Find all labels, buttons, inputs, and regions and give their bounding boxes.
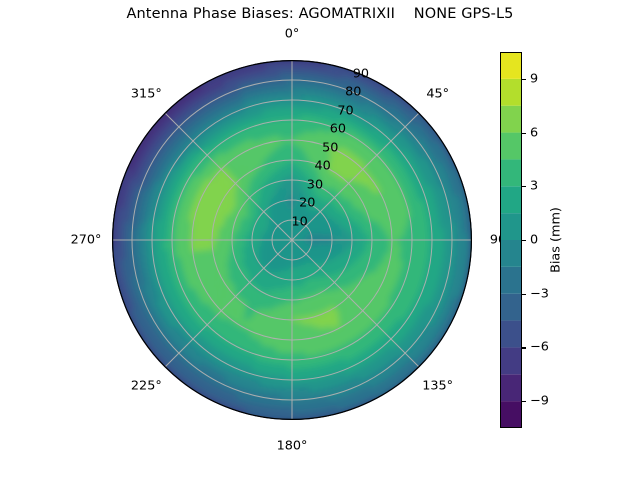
- angular-tick-label-135: 135°: [422, 378, 453, 393]
- radial-tick-label-70: 70: [337, 103, 353, 118]
- colorbar-tick-mark--6: [522, 347, 526, 348]
- polar-contour-svg: [112, 60, 472, 420]
- polar-plot: 102030405060708090: [112, 60, 472, 420]
- angular-tick-label-45: 45°: [426, 87, 449, 102]
- colorbar-tick-label-9: 9: [530, 71, 538, 86]
- colorbar-tick-label-3: 3: [530, 179, 538, 194]
- colorbar-tick-label--9: −9: [530, 394, 549, 409]
- radial-tick-label-60: 60: [330, 122, 346, 137]
- angular-tick-label-270: 270°: [71, 233, 102, 248]
- radial-tick-label-90: 90: [353, 66, 369, 81]
- radial-tick-label-50: 50: [322, 140, 338, 155]
- colorbar-axis-label: Bias (mm): [549, 207, 564, 273]
- radial-tick-label-80: 80: [345, 85, 361, 100]
- angular-tick-label-180: 180°: [277, 439, 308, 454]
- angular-tick-label-315: 315°: [131, 87, 162, 102]
- colorbar-tick-label-0: 0: [530, 233, 538, 248]
- colorbar-tick-mark--3: [522, 294, 526, 295]
- page-title: Antenna Phase Biases: AGOMATRIXII NONE G…: [0, 6, 640, 22]
- angular-tick-label-225: 225°: [131, 378, 162, 393]
- radial-tick-label-30: 30: [307, 177, 323, 192]
- angular-tick-label-0: 0°: [285, 27, 300, 42]
- colorbar-tick-mark-6: [522, 133, 526, 134]
- radial-tick-label-20: 20: [299, 196, 315, 211]
- radial-tick-label-10: 10: [291, 214, 307, 229]
- colorbar-tick-mark-3: [522, 186, 526, 187]
- colorbar-tick-mark-9: [522, 79, 526, 80]
- colorbar-tick-label--6: −6: [530, 340, 549, 355]
- colorbar-tick-label--3: −3: [530, 286, 549, 301]
- figure-canvas: Antenna Phase Biases: AGOMATRIXII NONE G…: [0, 0, 640, 480]
- colorbar-outline: [500, 52, 522, 428]
- radial-tick-label-40: 40: [314, 159, 330, 174]
- colorbar-tick-mark-0: [522, 240, 526, 241]
- colorbar-tick-label-6: 6: [530, 125, 538, 140]
- colorbar[interactable]: [500, 52, 522, 428]
- colorbar-tick-mark--9: [522, 401, 526, 402]
- polar-grid: [112, 60, 472, 420]
